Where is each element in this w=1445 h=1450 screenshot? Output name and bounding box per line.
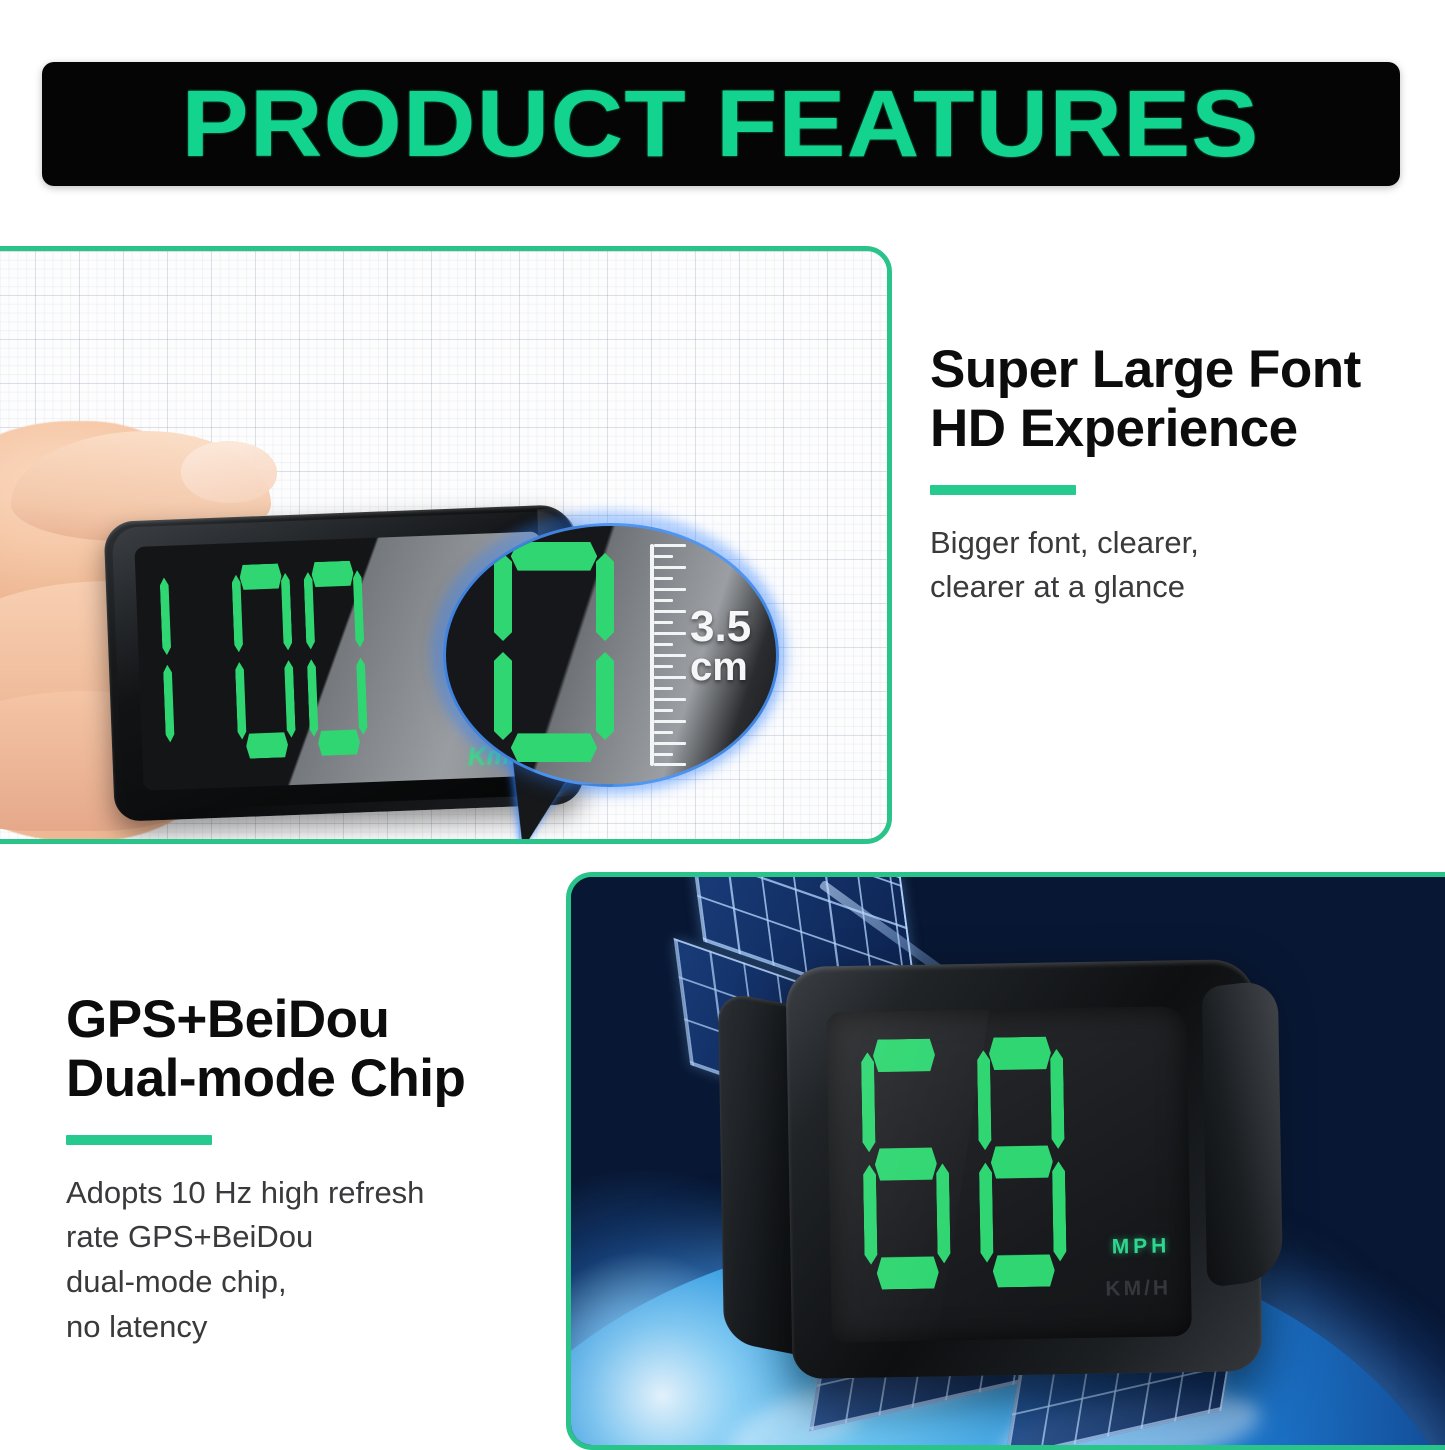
unit-label-mph-active: MPH xyxy=(1112,1234,1171,1259)
feature-body-line1: Bigger font, clearer, xyxy=(930,525,1199,560)
measurement-value: 3.5 xyxy=(690,602,751,651)
magnifier-callout: 3.5 cm xyxy=(443,523,773,823)
feature-body-line3: dual-mode chip, xyxy=(66,1264,287,1299)
header-banner: PRODUCT FEATURES xyxy=(42,62,1400,186)
feature-title: GPS+BeiDou Dual-mode Chip xyxy=(66,990,586,1109)
seven-segment-digit xyxy=(159,566,224,762)
feature-body-line2: rate GPS+BeiDou xyxy=(66,1219,313,1254)
feature-body-line2: clearer at a glance xyxy=(930,569,1185,604)
feature-block-super-large-font: Super Large Font HD Experience Bigger fo… xyxy=(930,340,1430,610)
seven-segment-digit xyxy=(303,560,368,756)
callout-bubble: 3.5 cm xyxy=(443,523,779,787)
panel-super-large-font-photo: Km/h xyxy=(0,246,892,844)
measurement-label: 3.5 cm xyxy=(690,606,776,687)
feature-block-gps-beidou: GPS+BeiDou Dual-mode Chip Adopts 10 Hz h… xyxy=(66,990,586,1349)
device-screen: MPH KM/H xyxy=(826,1006,1192,1342)
feature-body: Adopts 10 Hz high refresh rate GPS+BeiDo… xyxy=(66,1171,586,1350)
feature-title-line2: HD Experience xyxy=(930,399,1298,458)
hud-device-mph: MPH KM/H xyxy=(785,959,1262,1379)
feature-title: Super Large Font HD Experience xyxy=(930,340,1430,459)
panel-gps-beidou-photo: MPH KM/H xyxy=(566,872,1445,1450)
feature-body-line1: Adopts 10 Hz high refresh xyxy=(66,1175,424,1210)
feature-title-line1: Super Large Font xyxy=(930,340,1361,399)
feature-divider xyxy=(66,1135,212,1145)
seven-segment-digit xyxy=(231,563,296,759)
seven-segment-digit xyxy=(977,1036,1067,1287)
device-right-fin xyxy=(1202,979,1283,1288)
unit-label-kmh-inactive: KM/H xyxy=(1105,1276,1171,1301)
feature-title-line1: GPS+BeiDou xyxy=(66,990,389,1049)
page-title: PRODUCT FEATURES xyxy=(182,70,1260,179)
speed-readout-kmh xyxy=(159,560,368,762)
thumb-nail xyxy=(181,441,277,503)
measurement-unit: cm xyxy=(690,648,776,686)
feature-body: Bigger font, clearer, clearer at a glanc… xyxy=(930,521,1430,610)
feature-title-line2: Dual-mode Chip xyxy=(66,1049,465,1108)
magnified-seven-segment-digit xyxy=(494,542,614,762)
product-feature-infographic: PRODUCT FEATURES xyxy=(0,0,1445,1445)
feature-divider xyxy=(930,485,1076,495)
feature-body-line4: no latency xyxy=(66,1309,207,1344)
